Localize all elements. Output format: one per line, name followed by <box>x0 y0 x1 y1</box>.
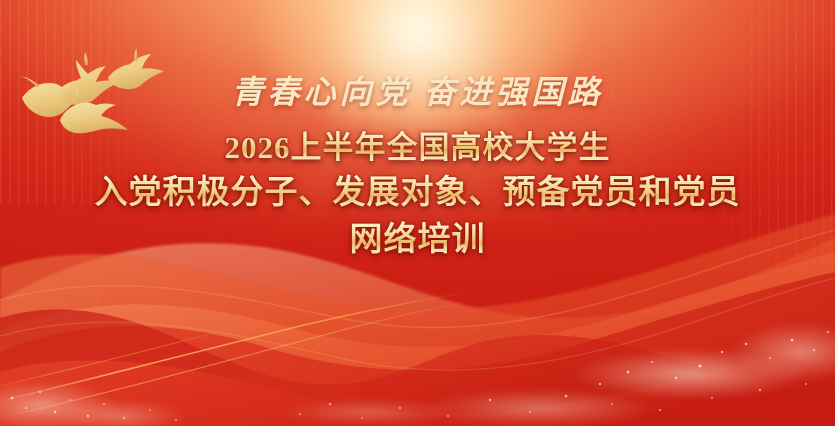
poster-canvas: 青春心向党 奋进强国路 2026上半年全国高校大学生 入党积极分子、发展对象、预… <box>0 0 835 426</box>
poster-headline: 2026上半年全国高校大学生 入党积极分子、发展对象、预备党员和党员 网络培训 <box>0 128 835 262</box>
poster-slogan: 青春心向党 奋进强国路 <box>0 72 835 112</box>
headline-line-2: 入党积极分子、发展对象、预备党员和党员 <box>0 172 835 215</box>
headline-line-3: 网络培训 <box>0 219 835 262</box>
poster-text-block: 青春心向党 奋进强国路 2026上半年全国高校大学生 入党积极分子、发展对象、预… <box>0 72 835 262</box>
headline-line-1: 2026上半年全国高校大学生 <box>0 128 835 168</box>
